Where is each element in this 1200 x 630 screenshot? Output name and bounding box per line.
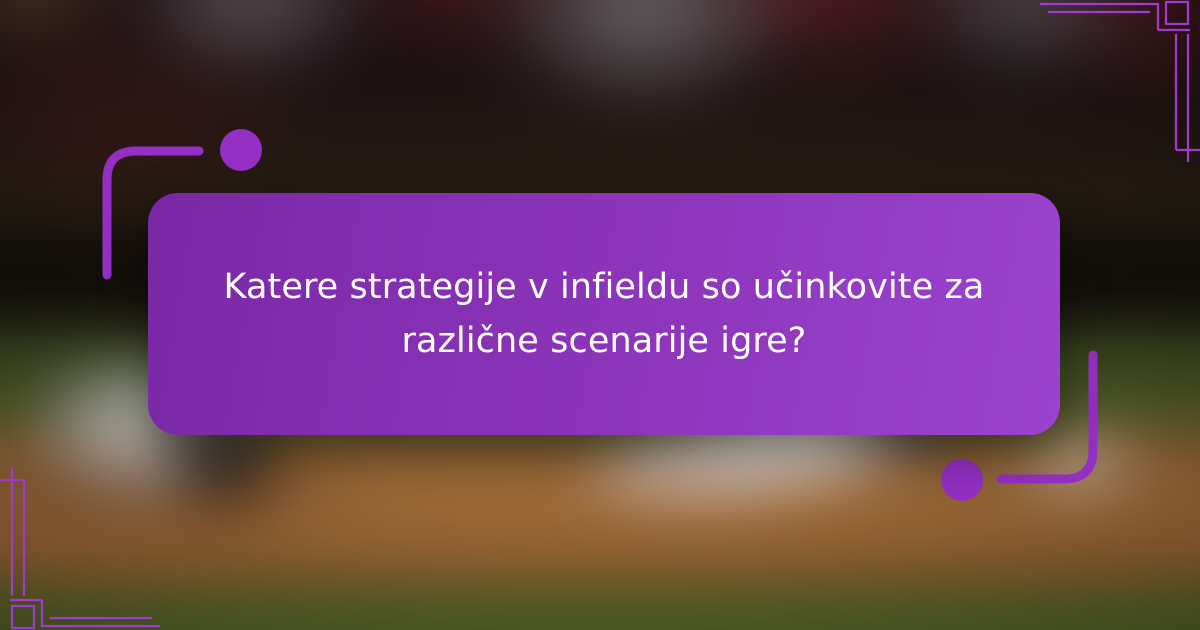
question-text: Katere strategije v infieldu so učinkovi… xyxy=(208,260,1000,369)
question-card: Katere strategije v infieldu so učinkovi… xyxy=(148,193,1060,435)
social-card-canvas: Katere strategije v infieldu so učinkovi… xyxy=(0,0,1200,630)
accent-dot-bottom-right xyxy=(941,459,983,501)
accent-dot-top-left xyxy=(220,129,262,171)
